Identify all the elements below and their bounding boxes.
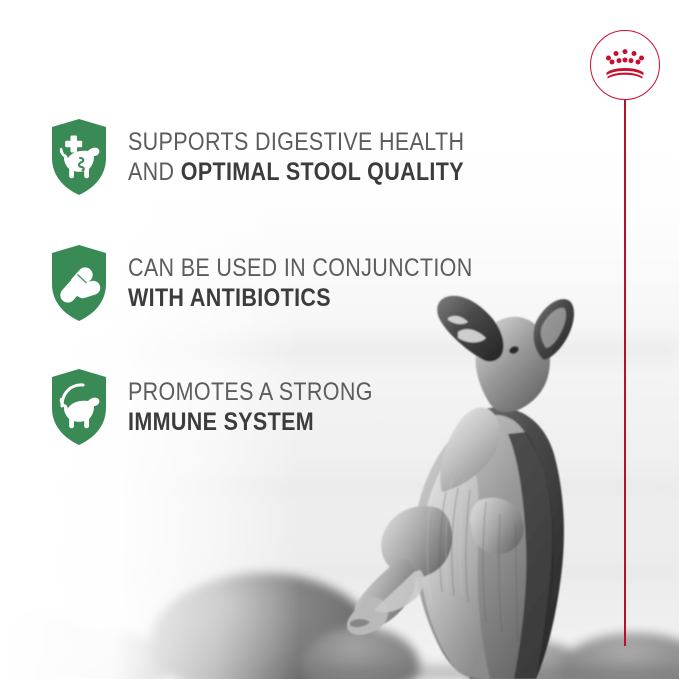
benefit-line-2: IMMUNE SYSTEM: [128, 410, 373, 435]
shield-pill-capsules-icon: [50, 244, 108, 322]
benefit-text: SUPPORTS DIGESTIVE HEALTH AND OPTIMAL ST…: [128, 130, 519, 185]
benefit-line-1: SUPPORTS DIGESTIVE HEALTH: [128, 130, 464, 155]
benefits-list: SUPPORTS DIGESTIVE HEALTH AND OPTIMAL ST…: [0, 0, 679, 679]
benefit-row: SUPPORTS DIGESTIVE HEALTH AND OPTIMAL ST…: [50, 118, 519, 196]
benefit-row: PROMOTES A STRONG IMMUNE SYSTEM: [50, 368, 413, 446]
benefit-text: PROMOTES A STRONG IMMUNE SYSTEM: [128, 380, 413, 435]
shield-dog-protective-arc-icon: [50, 368, 108, 446]
benefit-line-1: PROMOTES A STRONG: [128, 380, 373, 405]
shield-dog-medical-cross-icon: [50, 118, 108, 196]
benefit-text: CAN BE USED IN CONJUNCTION WITH ANTIBIOT…: [128, 256, 529, 311]
benefit-line-1: CAN BE USED IN CONJUNCTION: [128, 256, 473, 281]
benefit-line-2: WITH ANTIBIOTICS: [128, 286, 473, 311]
benefit-line-2-light: AND: [128, 158, 181, 186]
benefit-row: CAN BE USED IN CONJUNCTION WITH ANTIBIOT…: [50, 244, 529, 322]
benefit-line-2-bold: WITH ANTIBIOTICS: [128, 284, 331, 312]
benefit-line-2-bold: OPTIMAL STOOL QUALITY: [181, 158, 464, 186]
benefit-line-2-bold: IMMUNE SYSTEM: [128, 408, 314, 436]
product-benefits-banner: SUPPORTS DIGESTIVE HEALTH AND OPTIMAL ST…: [0, 0, 679, 679]
benefit-line-2: AND OPTIMAL STOOL QUALITY: [128, 160, 464, 185]
